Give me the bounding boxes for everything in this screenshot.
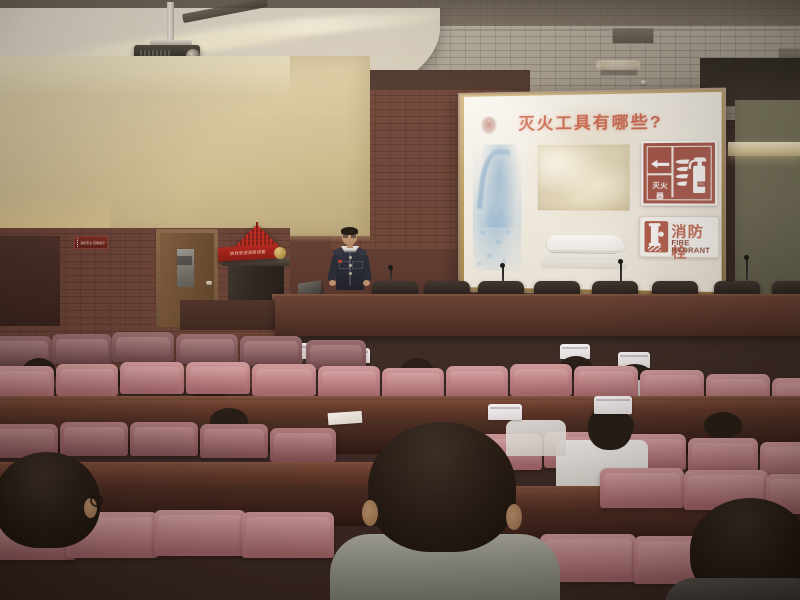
auditorium-seat[interactable]: [176, 334, 238, 364]
attendee-ear: [362, 500, 378, 526]
wall-left-recess: [0, 236, 60, 326]
auditorium-seat[interactable]: [154, 510, 246, 556]
auditorium-seat[interactable]: [130, 422, 198, 456]
door-window: [176, 248, 195, 288]
ceiling-vent: [612, 28, 654, 44]
table-microphone: [746, 258, 748, 284]
wall-light-glow: [0, 56, 290, 96]
fire-hydrant-sign: 消防栓 FIRE HYDRANT: [639, 216, 719, 259]
projector-mount-pole: [167, 2, 174, 42]
extinguisher-icon: 灭火器: [691, 155, 707, 193]
flame-icon: [676, 157, 690, 193]
auditorium-seat[interactable]: [600, 468, 684, 508]
auditorium-seat[interactable]: [510, 364, 572, 396]
attendee-head: [704, 412, 742, 438]
presenter-button: [349, 256, 352, 259]
auditorium-seat[interactable]: [200, 424, 268, 458]
auditorium-seat[interactable]: [574, 366, 638, 398]
attendee-head: [368, 422, 516, 552]
fire-extinguisher-sign: 灭火器 灭火器: [641, 140, 717, 205]
auditorium-seat[interactable]: [112, 332, 174, 362]
auditorium-seat[interactable]: [446, 366, 508, 398]
sign-divider-vertical: [671, 147, 673, 197]
auditorium-seat[interactable]: [688, 438, 758, 474]
emergency-info-plaque: 消防安全 疏散指示: [74, 236, 108, 249]
auditorium-seat[interactable]: [318, 366, 380, 398]
presenter-officer: [330, 228, 370, 300]
fire-blanket-photo: [541, 233, 631, 273]
extinguisher-sign-label: 灭火器: [649, 180, 672, 201]
sprinkler-head: [641, 80, 646, 85]
hydrant-icon: [645, 221, 669, 252]
podium-banner-text: 热烈欢迎消防讲座: [230, 249, 266, 257]
slide-title: 灭火工具有哪些?: [464, 107, 722, 135]
water-droplets: [474, 223, 518, 270]
hydrant-label-en: FIRE HYDRANT: [671, 240, 718, 255]
wall-light-strip: [728, 142, 800, 156]
table-microphone: [620, 262, 622, 284]
auditorium-seat[interactable]: [270, 428, 336, 462]
ceiling-light: [596, 60, 640, 70]
extinguisher-canister-tag: 灭火器: [697, 181, 705, 186]
table-microphone: [502, 266, 504, 284]
plaque-qr-icon: [77, 238, 78, 247]
plaque-text: 消防安全 疏散指示: [80, 241, 105, 245]
presenter-shoulder-right: [358, 250, 367, 255]
sand-photo: [538, 144, 630, 210]
auditorium-seat[interactable]: [0, 366, 54, 398]
presenter-hand-left: [329, 280, 336, 286]
attendee-shoulders: [664, 578, 800, 600]
presenter-hair: [341, 227, 358, 235]
head-table: [275, 296, 800, 336]
door-handle[interactable]: [206, 281, 212, 285]
auditorium-seat[interactable]: [252, 364, 316, 396]
left-arrow-icon: [651, 160, 669, 168]
auditorium-seat[interactable]: [120, 362, 184, 394]
attendee-glasses: [90, 494, 103, 507]
hydrant-flame-wave-icon: [648, 245, 661, 251]
auditorium-scene: 消防安全 疏散指示 热烈欢迎消防讲座 灭火工具有哪些?: [0, 0, 800, 600]
nurse-cap: [488, 404, 522, 420]
auditorium-seat[interactable]: [60, 422, 128, 456]
hydrant-valve: [658, 232, 663, 237]
blanket-fold-top: [547, 235, 624, 251]
extinguisher-canister: 灭火器: [693, 166, 705, 193]
table-microphone: [390, 268, 392, 284]
presenter-pocket-right: [352, 261, 363, 269]
auditorium-seat[interactable]: [186, 362, 250, 394]
nurse-uniform: [506, 420, 566, 456]
presenter-glasses: [343, 235, 356, 238]
presenter-hand-right: [363, 280, 370, 286]
auditorium-seat[interactable]: [242, 512, 334, 558]
handout-paper[interactable]: [328, 411, 363, 425]
door-window-reflection: [177, 256, 192, 265]
podium-emblem: [274, 247, 286, 259]
attendee-ear: [506, 504, 522, 530]
presenter-button: [349, 272, 352, 275]
presenter-badge: [338, 260, 342, 263]
projection-screen: 灭火工具有哪些? 灭火器: [458, 88, 726, 298]
auditorium-seat[interactable]: [52, 334, 112, 364]
presenter-shoulder-left: [333, 250, 342, 255]
auditorium-seat[interactable]: [240, 336, 302, 366]
auditorium-seat[interactable]: [56, 364, 118, 396]
sign-divider-horizontal: [648, 173, 673, 175]
nurse-cap: [594, 396, 632, 414]
